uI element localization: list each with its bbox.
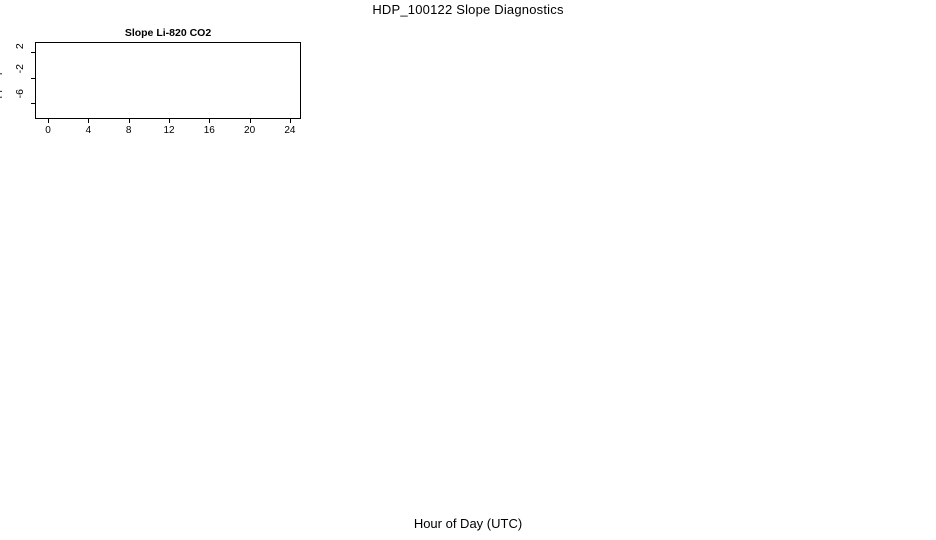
y-axis-label: Licor ppm per min. <box>0 42 3 119</box>
x-tick-label: 16 <box>204 125 215 136</box>
y-tick-label: 2 <box>14 43 26 49</box>
y-tick-label: -2 <box>14 64 26 73</box>
x-tick-label: 24 <box>284 125 295 136</box>
x-tick-label: 8 <box>126 125 132 136</box>
plot-area: 04812162024-6-22 <box>35 42 301 119</box>
panel-slope-li820-co2: Slope Li-820 CO204812162024-6-22Licor pp… <box>0 0 936 540</box>
x-tick-label: 4 <box>86 125 92 136</box>
figure-xlabel: Hour of Day (UTC) <box>0 516 936 531</box>
x-tick-label: 0 <box>45 125 51 136</box>
panel-title: Slope Li-820 CO2 <box>35 27 301 39</box>
x-tick-label: 20 <box>244 125 255 136</box>
x-tick-label: 12 <box>163 125 174 136</box>
diagnostics-figure: HDP_100122 Slope Diagnostics Slope Li-82… <box>0 0 936 540</box>
y-tick-label: -6 <box>14 89 26 98</box>
data-points-layer <box>36 43 302 120</box>
